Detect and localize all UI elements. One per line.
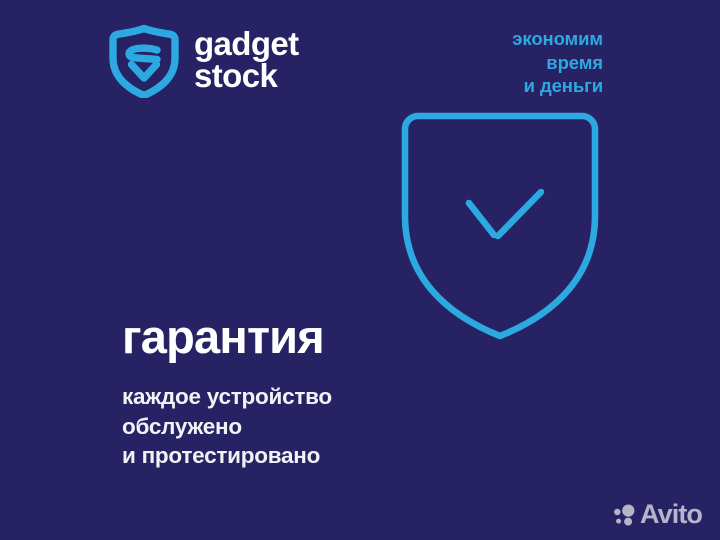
subcopy: каждое устройство обслужено и протестиро… <box>122 382 452 471</box>
subcopy-line-2: обслужено <box>122 412 452 442</box>
page-title: гарантия <box>122 313 452 360</box>
avito-watermark: Avito <box>613 501 702 528</box>
tagline-line-2: время <box>512 51 603 75</box>
promo-banner: gadget stock экономим время и деньги гар… <box>0 0 720 540</box>
tagline-line-3: и деньги <box>512 74 603 98</box>
tagline-line-1: экономим <box>512 27 603 51</box>
subcopy-line-1: каждое устройство <box>122 382 452 412</box>
brand-name-line-2: stock <box>194 60 299 92</box>
avito-label: Avito <box>640 501 702 528</box>
subcopy-line-3: и протестировано <box>122 441 452 471</box>
brand-name-line-1: gadget <box>194 28 299 60</box>
shield-logo-icon <box>107 24 181 98</box>
shield-check-icon <box>389 104 611 348</box>
tagline: экономим время и деньги <box>512 27 603 98</box>
brand-lockup: gadget stock <box>107 24 299 98</box>
copy-block: гарантия каждое устройство обслужено и п… <box>122 313 452 471</box>
avito-dots-icon <box>613 503 636 526</box>
brand-wordmark: gadget stock <box>194 28 299 95</box>
